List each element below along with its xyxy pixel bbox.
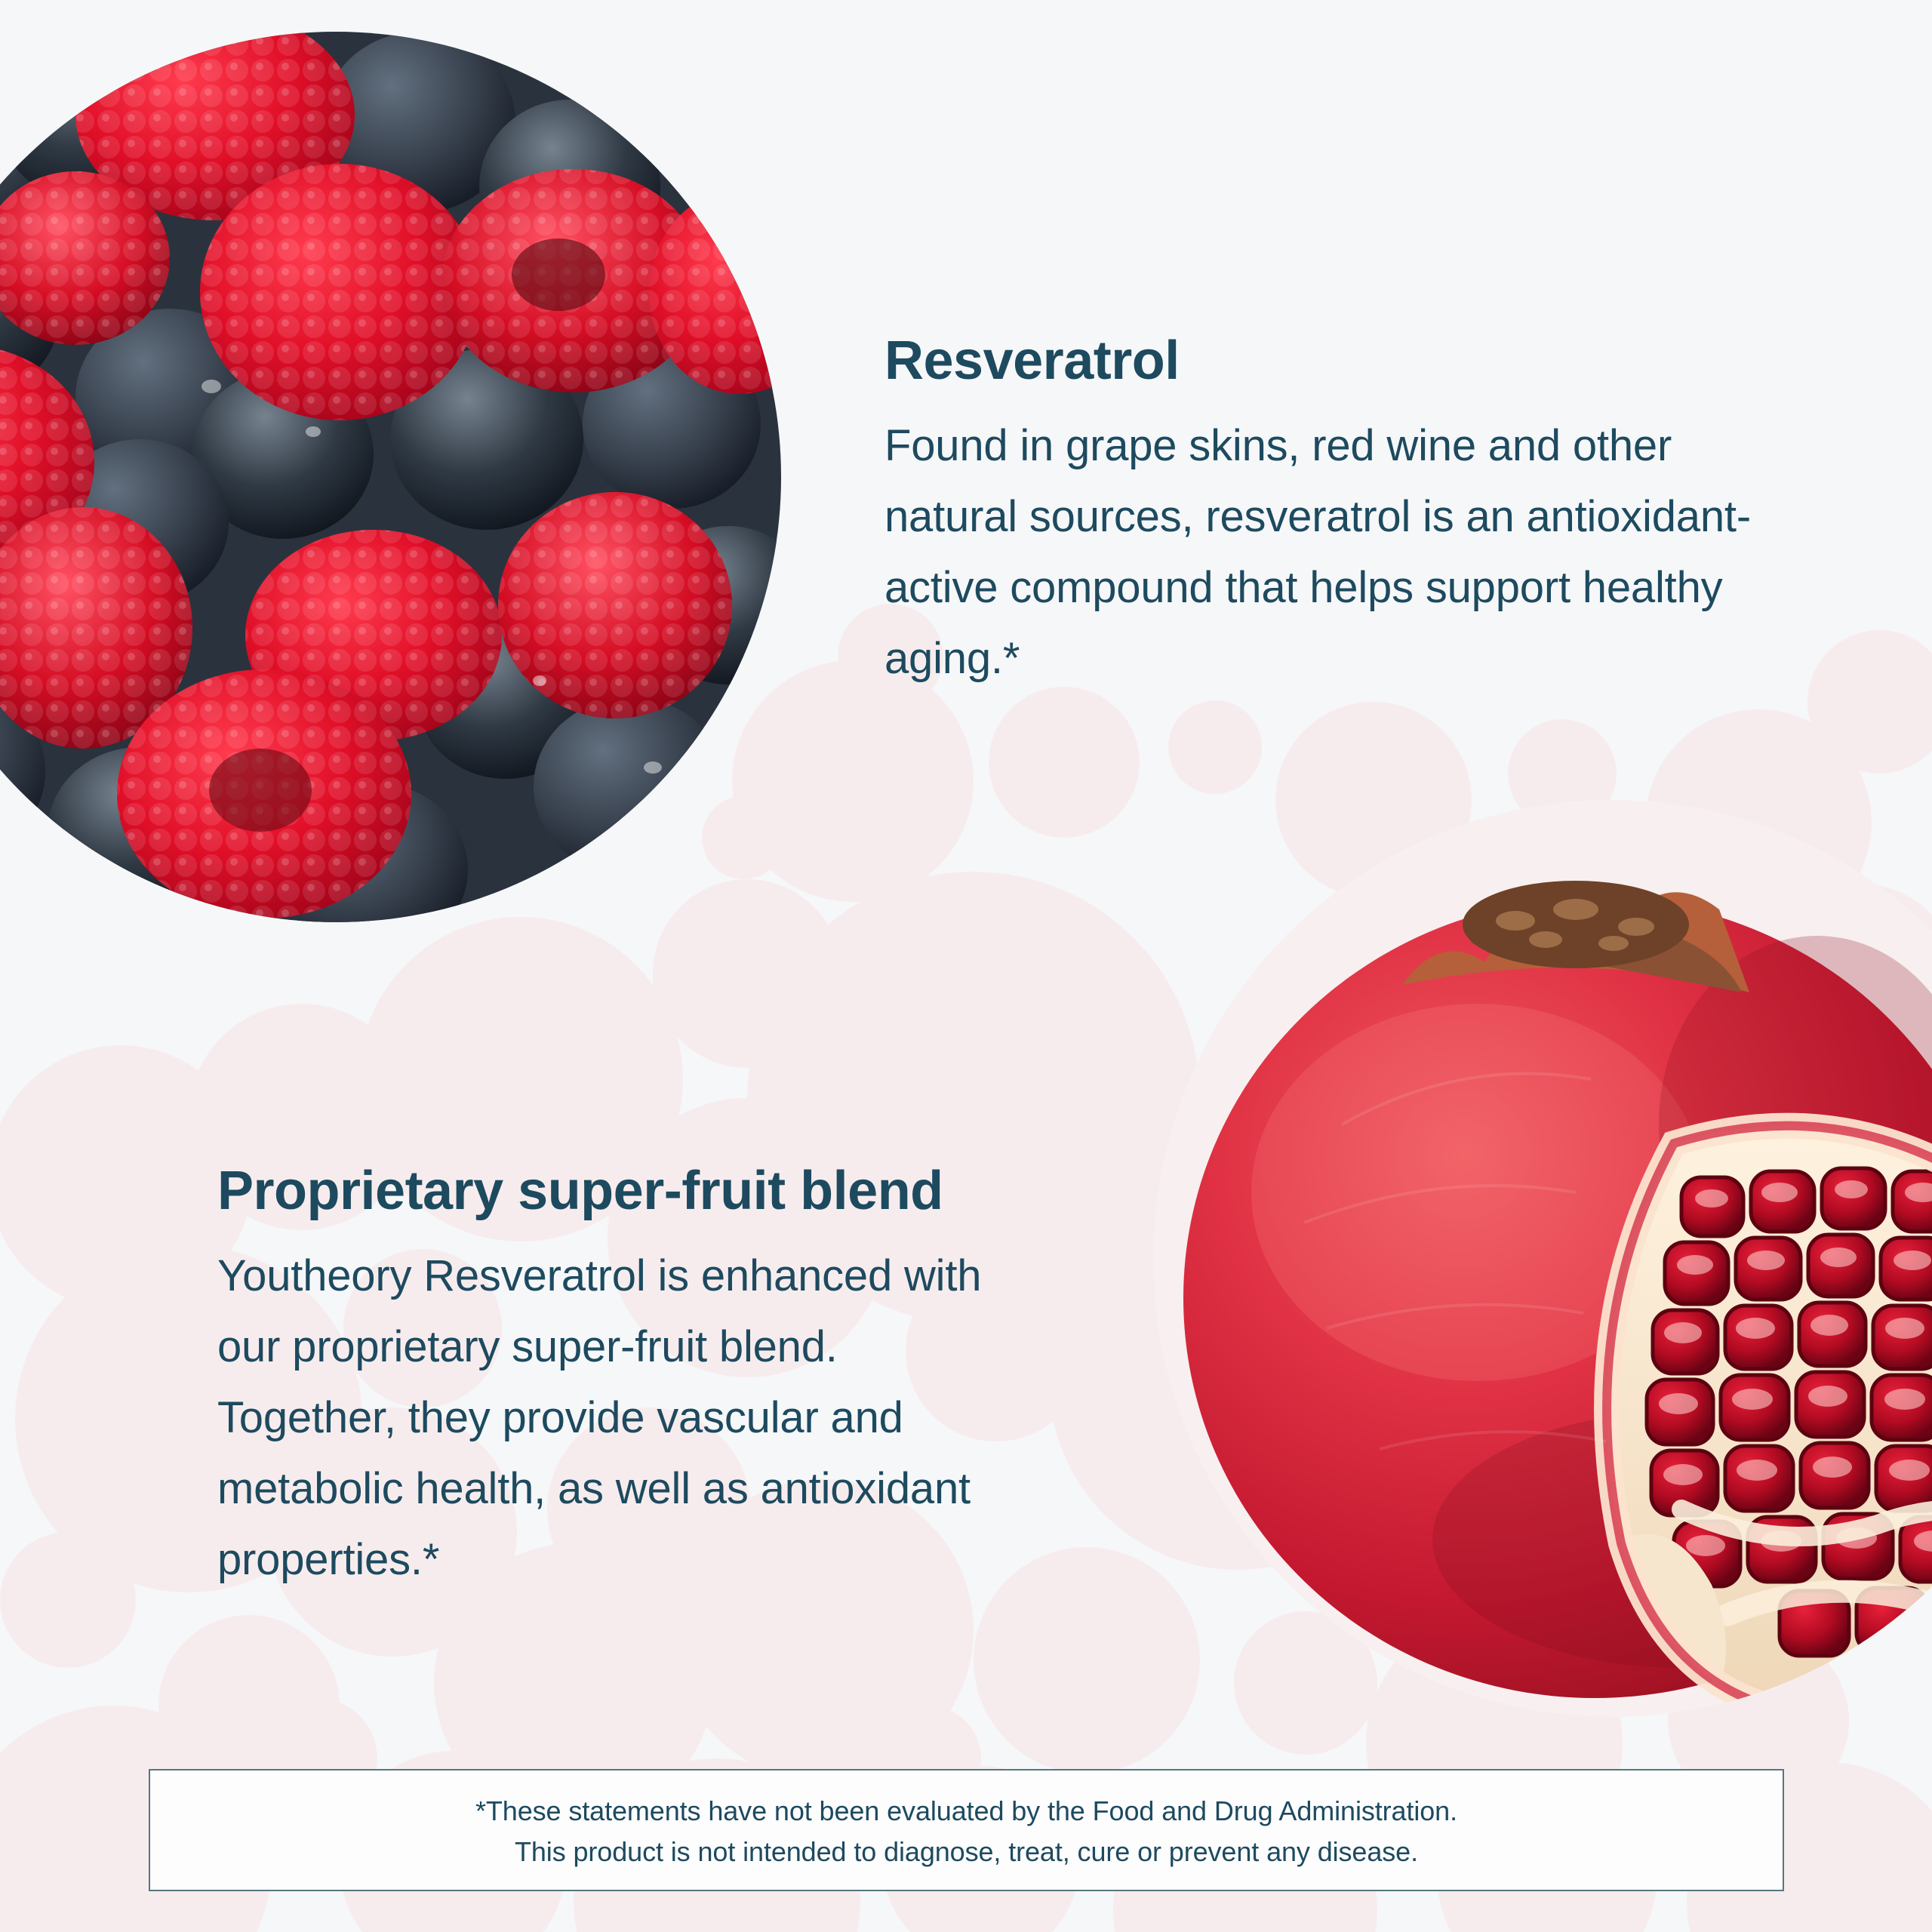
mixed-berries-photo <box>0 32 781 922</box>
fda-disclaimer-box: *These statements have not been evaluate… <box>149 1769 1784 1891</box>
disclaimer-line-2: This product is not intended to diagnose… <box>515 1832 1418 1872</box>
marketing-panel: Resveratrol Found in grape skins, red wi… <box>0 0 1932 1932</box>
pomegranate-photo <box>1153 800 1932 1717</box>
super-fruit-blend-text-block: Proprietary super-fruit blend Youtheory … <box>217 1162 1017 1595</box>
resveratrol-body: Found in grape skins, red wine and other… <box>884 411 1775 694</box>
super-fruit-blend-body: Youtheory Resveratrol is enhanced with o… <box>217 1241 1017 1595</box>
resveratrol-heading: Resveratrol <box>884 332 1775 391</box>
super-fruit-blend-heading: Proprietary super-fruit blend <box>217 1162 1017 1221</box>
resveratrol-text-block: Resveratrol Found in grape skins, red wi… <box>884 332 1775 694</box>
disclaimer-line-1: *These statements have not been evaluate… <box>475 1791 1457 1832</box>
